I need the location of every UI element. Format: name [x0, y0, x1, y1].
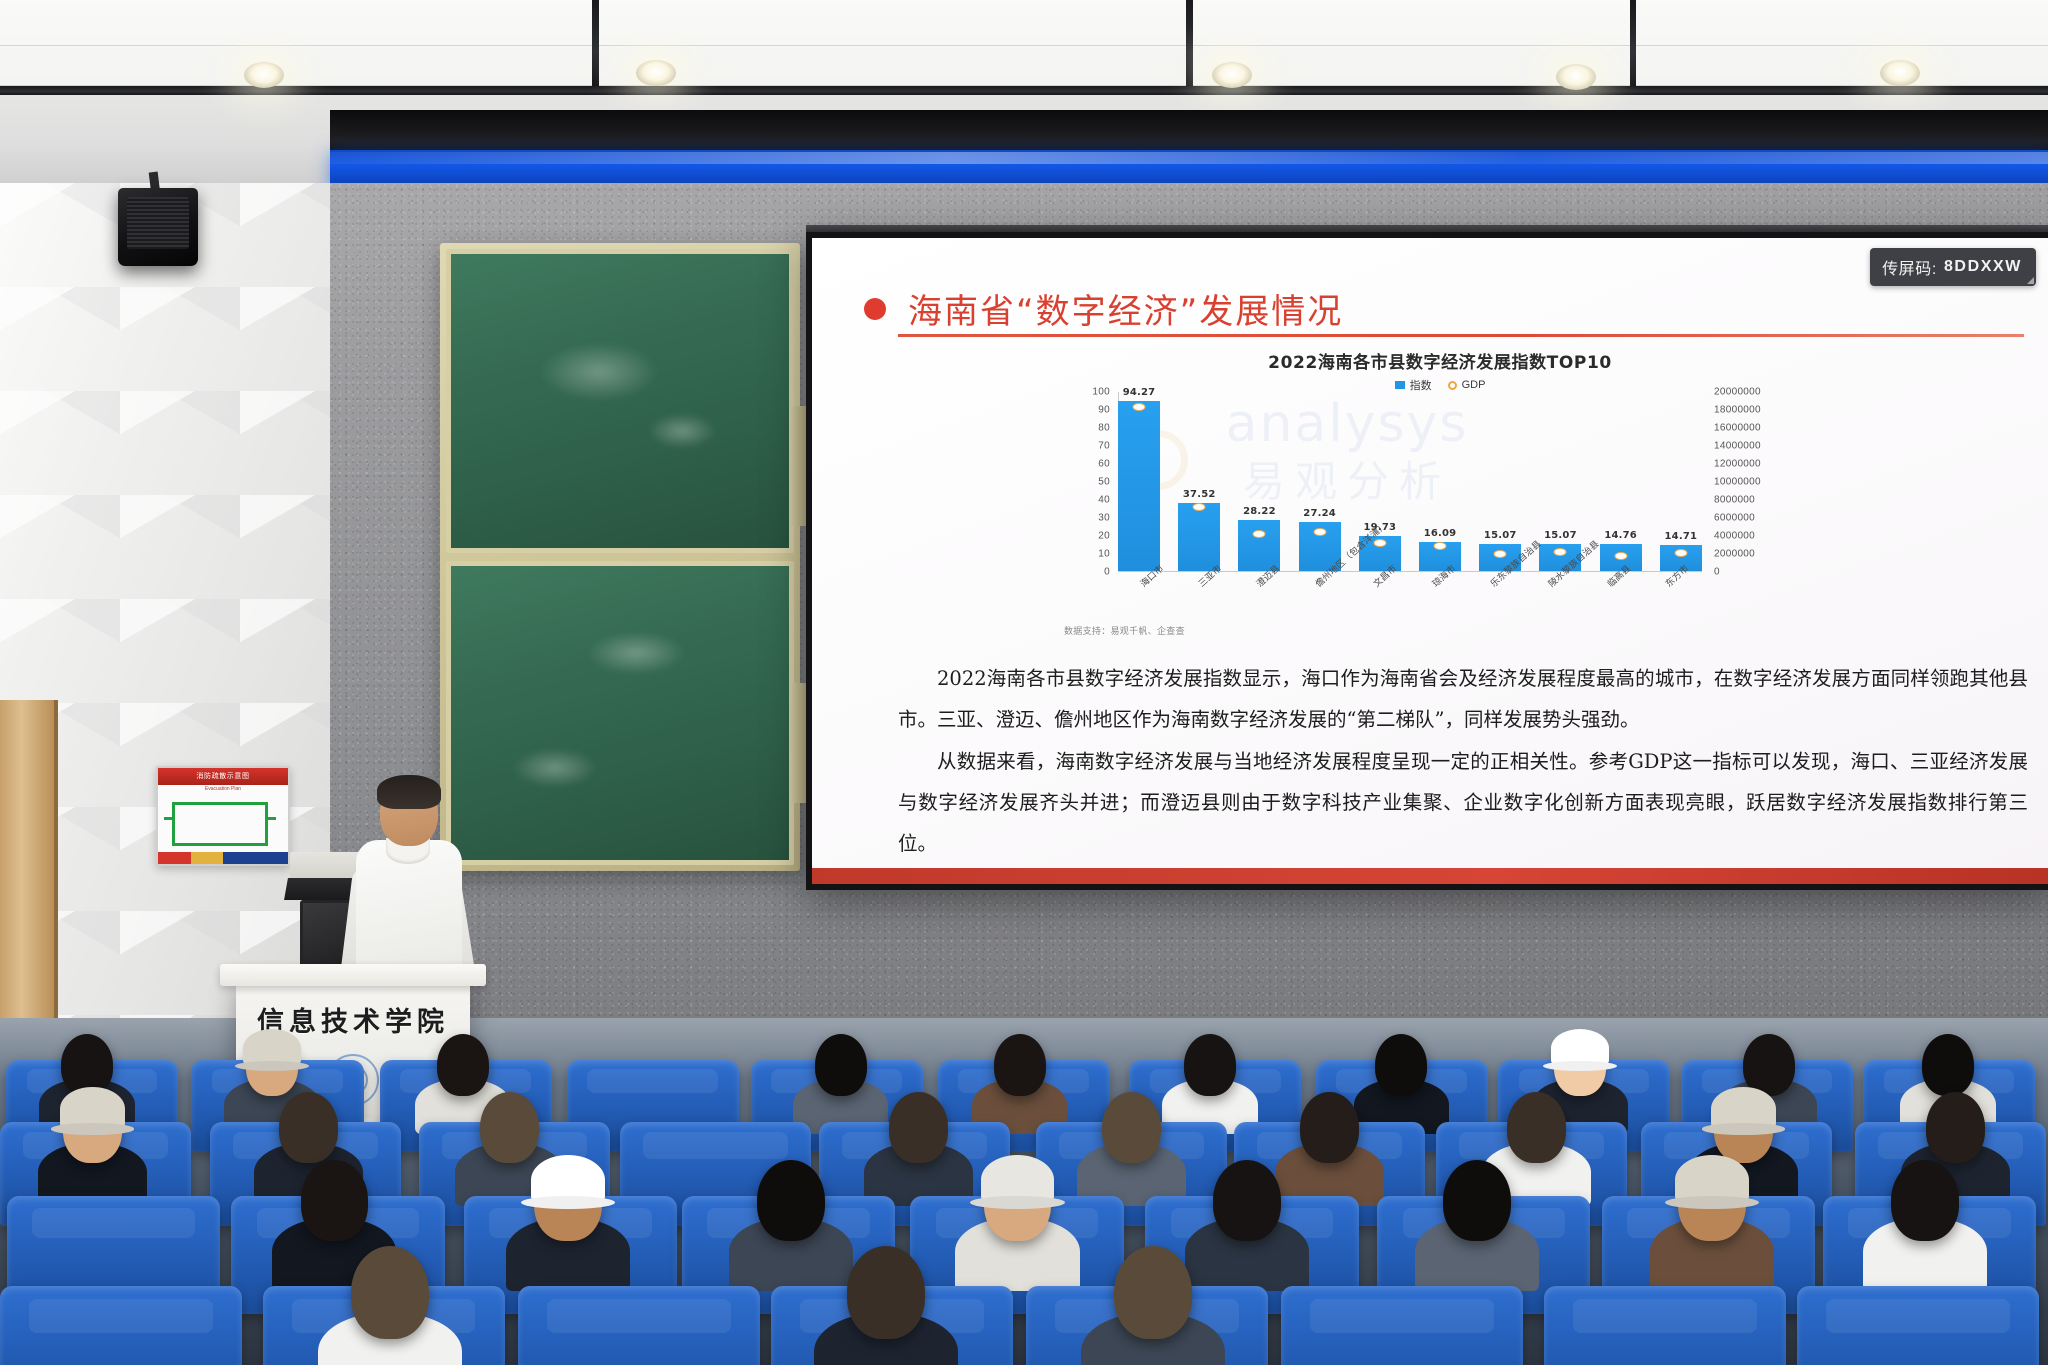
audience-member-cap: [60, 1087, 125, 1131]
audience-member-head: [1375, 1034, 1427, 1096]
audience-member-head: [1102, 1092, 1161, 1163]
y-tick-left: 10: [1098, 549, 1110, 560]
wall-speaker: [118, 188, 198, 266]
bar-value-label: 94.27: [1123, 387, 1156, 398]
audience-member-cap: [531, 1155, 605, 1205]
chart-bar-column[interactable]: 27.24: [1299, 391, 1341, 571]
chart: 2022海南各市县数字经济发展指数TOP10 analysys 易观分析 202…: [1060, 348, 1820, 638]
audience-member-cap: [981, 1155, 1055, 1205]
legend-label-gdp: GDP: [1462, 379, 1486, 391]
audience-member-head: [1507, 1092, 1566, 1163]
chart-bar[interactable]: [1178, 503, 1220, 571]
chart-title: 2022海南各市县数字经济发展指数TOP10: [1060, 348, 1820, 373]
y-tick-left: 90: [1098, 405, 1110, 416]
audience-member-head: [1443, 1160, 1511, 1241]
y-tick-right: 4000000: [1714, 531, 1755, 542]
resize-handle-icon[interactable]: [2027, 277, 2034, 284]
audience-member-cap: [1711, 1087, 1776, 1131]
gdp-marker-icon: [1133, 403, 1146, 411]
y-tick-right: 10000000: [1714, 477, 1761, 488]
chart-y-axis-left: 0102030405060708090100: [1064, 392, 1116, 572]
chart-x-axis-labels: 海口市三亚市澄迈县儋州地区（包含洋浦）文昌市琼海市乐东黎族自治县陵水黎族自治县临…: [1118, 578, 1702, 634]
bar-value-label: 15.07: [1544, 530, 1577, 541]
screen-code-label: 传屏码:: [1882, 255, 1937, 279]
title-underline: [898, 334, 2024, 337]
audience-member-cap: [1551, 1029, 1609, 1067]
audience-member-head: [1300, 1092, 1359, 1163]
bar-value-label: 16.09: [1424, 528, 1457, 539]
chalkboard: [440, 243, 800, 871]
bar-value-label: 27.24: [1303, 508, 1336, 519]
y-tick-left: 20: [1098, 531, 1110, 542]
ceiling-beam: [330, 110, 2048, 154]
auditorium-seat: [1797, 1286, 2039, 1365]
evacuation-sign-subtitle: Evacuation Plan: [158, 786, 288, 792]
y-tick-right: 18000000: [1714, 405, 1761, 416]
audience-member-head: [994, 1034, 1046, 1096]
evacuation-sign-title: 消防疏散示意图: [158, 768, 288, 785]
auditorium-seat: [1544, 1286, 1786, 1365]
screen-code-value: 8DDXXW: [1944, 258, 2022, 276]
y-tick-right: 2000000: [1714, 549, 1755, 560]
lecture-hall-scene: 消防疏散示意图 Evacuation Plan 传屏码: 8DDXXW: [0, 0, 2048, 1365]
y-tick-right: 12000000: [1714, 459, 1761, 470]
evacuation-map-diagram: [172, 802, 268, 846]
auditorium-seat: [0, 1286, 242, 1365]
gdp-marker-icon: [1434, 542, 1447, 550]
chart-bars: 94.2737.5228.2227.2419.7316.0915.0715.07…: [1118, 391, 1702, 571]
y-tick-right: 20000000: [1714, 387, 1761, 398]
y-tick-left: 70: [1098, 441, 1110, 452]
screen-code-badge: 传屏码: 8DDXXW: [1870, 248, 2036, 286]
legend-item-gdp[interactable]: GDP: [1448, 379, 1486, 391]
chalkboard-lower-panel: [446, 561, 794, 865]
y-tick-right: 16000000: [1714, 423, 1761, 434]
audience-member-cap: [1675, 1155, 1749, 1205]
chart-bar-column[interactable]: 94.27: [1118, 391, 1160, 571]
audience-member-head: [847, 1246, 925, 1339]
audience-member-head: [279, 1092, 338, 1163]
legend-circle-icon: [1448, 381, 1457, 390]
y-tick-left: 100: [1092, 387, 1110, 398]
y-tick-left: 50: [1098, 477, 1110, 488]
evacuation-plan-sign: 消防疏散示意图 Evacuation Plan: [156, 766, 290, 866]
side-door[interactable]: [0, 700, 58, 1018]
y-tick-left: 0: [1104, 567, 1110, 578]
bar-value-label: 37.52: [1183, 489, 1216, 500]
y-tick-left: 60: [1098, 459, 1110, 470]
gdp-marker-icon: [1313, 528, 1326, 536]
chart-bar-column[interactable]: 14.76: [1600, 391, 1642, 571]
bar-value-label: 14.76: [1604, 530, 1637, 541]
auditorium-seat: [1281, 1286, 1523, 1365]
projection-screen: 传屏码: 8DDXXW 海南省“数字经济”发展情况 2022海南各市县数字经济发…: [806, 232, 2048, 890]
chart-y-axis-right: 0200000040000006000000800000010000000120…: [1708, 392, 1818, 572]
chart-source-note: 数据支持：易观千帆、企查查: [1064, 624, 1185, 637]
chalk-tray-upper: [790, 406, 806, 526]
chalk-tray-lower: [790, 683, 806, 803]
chart-bar-column[interactable]: 28.22: [1238, 391, 1280, 571]
audience-member-head: [1184, 1034, 1236, 1096]
chalkboard-upper-panel: [446, 249, 794, 553]
bar-value-label: 14.71: [1665, 531, 1698, 542]
y-tick-right: 14000000: [1714, 441, 1761, 452]
audience-member-head: [889, 1092, 948, 1163]
chart-bar-column[interactable]: 16.09: [1419, 391, 1461, 571]
bar-value-label: 15.07: [1484, 530, 1517, 541]
slide-paragraph: 从数据来看，海南数字经济发展与当地经济发展程度呈现一定的正相关性。参考GDP这一…: [898, 741, 2028, 865]
slide-paragraph: 2022海南各市县数字经济发展指数显示，海口作为海南省会及经济发展程度最高的城市…: [898, 658, 2028, 741]
chart-bar-column[interactable]: 37.52: [1178, 391, 1220, 571]
audience-member-head: [301, 1160, 369, 1241]
auditorium-seat: [518, 1286, 760, 1365]
chart-bar-column[interactable]: 15.07: [1539, 391, 1581, 571]
gdp-marker-icon: [1494, 550, 1507, 558]
legend-square-icon: [1395, 381, 1405, 389]
gdp-marker-icon: [1253, 530, 1266, 538]
y-tick-left: 40: [1098, 495, 1110, 506]
gdp-marker-icon: [1674, 549, 1687, 557]
audience-member-head: [351, 1246, 429, 1339]
audience-member-head: [1114, 1246, 1192, 1339]
y-tick-left: 30: [1098, 513, 1110, 524]
evacuation-sign-footer: [158, 852, 288, 864]
audience-member-head: [815, 1034, 867, 1096]
slide-bottom-accent-bar: [812, 868, 2048, 884]
gdp-marker-icon: [1554, 548, 1567, 556]
slide-canvas: 传屏码: 8DDXXW 海南省“数字经济”发展情况 2022海南各市县数字经济发…: [812, 238, 2048, 884]
bullet-dot-icon: [864, 298, 886, 320]
audience-member-head: [1891, 1160, 1959, 1241]
y-tick-right: 6000000: [1714, 513, 1755, 524]
chart-bar-column[interactable]: 14.71: [1660, 391, 1702, 571]
audience-member-cap: [243, 1029, 301, 1067]
y-tick-right: 0: [1714, 567, 1720, 578]
gdp-marker-icon: [1614, 552, 1627, 560]
y-tick-left: 80: [1098, 423, 1110, 434]
audience-member-head: [757, 1160, 825, 1241]
chart-bar[interactable]: [1118, 401, 1160, 571]
audience-member-head: [1922, 1034, 1974, 1096]
chart-bar-column[interactable]: 15.07: [1479, 391, 1521, 571]
y-tick-right: 8000000: [1714, 495, 1755, 506]
slide-title-row: 海南省“数字经济”发展情况: [864, 284, 1343, 333]
audience-member-head: [437, 1034, 489, 1096]
slide-title: 海南省“数字经济”发展情况: [908, 284, 1343, 333]
gdp-marker-icon: [1193, 503, 1206, 511]
audience-member-head: [480, 1092, 539, 1163]
audience-member-head: [1926, 1092, 1985, 1163]
audience-member-head: [1213, 1160, 1281, 1241]
slide-body-text: 2022海南各市县数字经济发展指数显示，海口作为海南省会及经济发展程度最高的城市…: [898, 658, 2028, 865]
chart-plot-area: 0102030405060708090100 02000000400000060…: [1118, 392, 1702, 572]
bar-value-label: 28.22: [1243, 506, 1276, 517]
